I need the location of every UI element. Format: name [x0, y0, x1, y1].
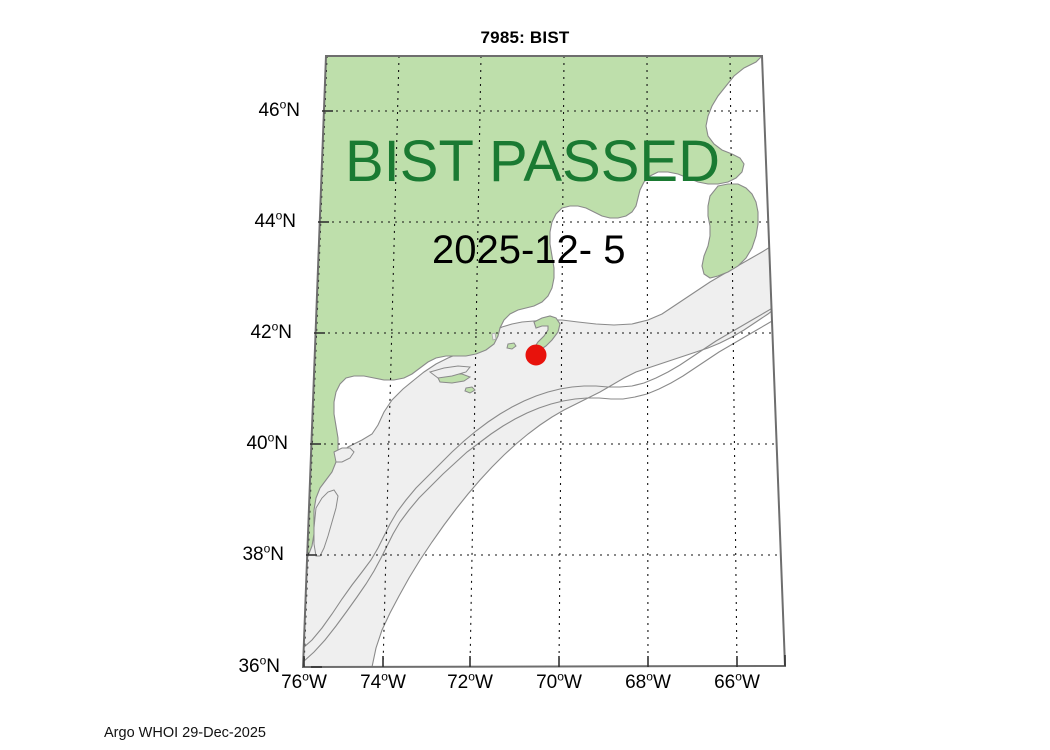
inland-water-mark	[492, 333, 496, 340]
x-tick-label-70: 70oW	[509, 672, 609, 694]
x-tick-label-72: 72oW	[420, 672, 520, 694]
status-overlay-text: BIST PASSED	[345, 128, 720, 195]
figure-canvas: 7985: BIST	[0, 0, 1050, 750]
y-tick-label-38: 38oN	[174, 544, 284, 566]
map-svg	[0, 0, 1050, 750]
y-tick-label-46: 46oN	[190, 100, 300, 122]
y-tick-label-44: 44oN	[186, 211, 296, 233]
x-tick-label-74: 74oW	[333, 672, 433, 694]
y-tick-label-40: 40oN	[178, 433, 288, 455]
x-tick-label-68: 68oW	[598, 672, 698, 694]
footer-attribution: Argo WHOI 29-Dec-2025	[104, 725, 266, 741]
x-tick-label-66: 66oW	[687, 672, 787, 694]
float-marker-square	[528, 347, 545, 364]
date-overlay-text: 2025-12- 5	[432, 228, 625, 273]
y-tick-label-42: 42oN	[182, 322, 292, 344]
